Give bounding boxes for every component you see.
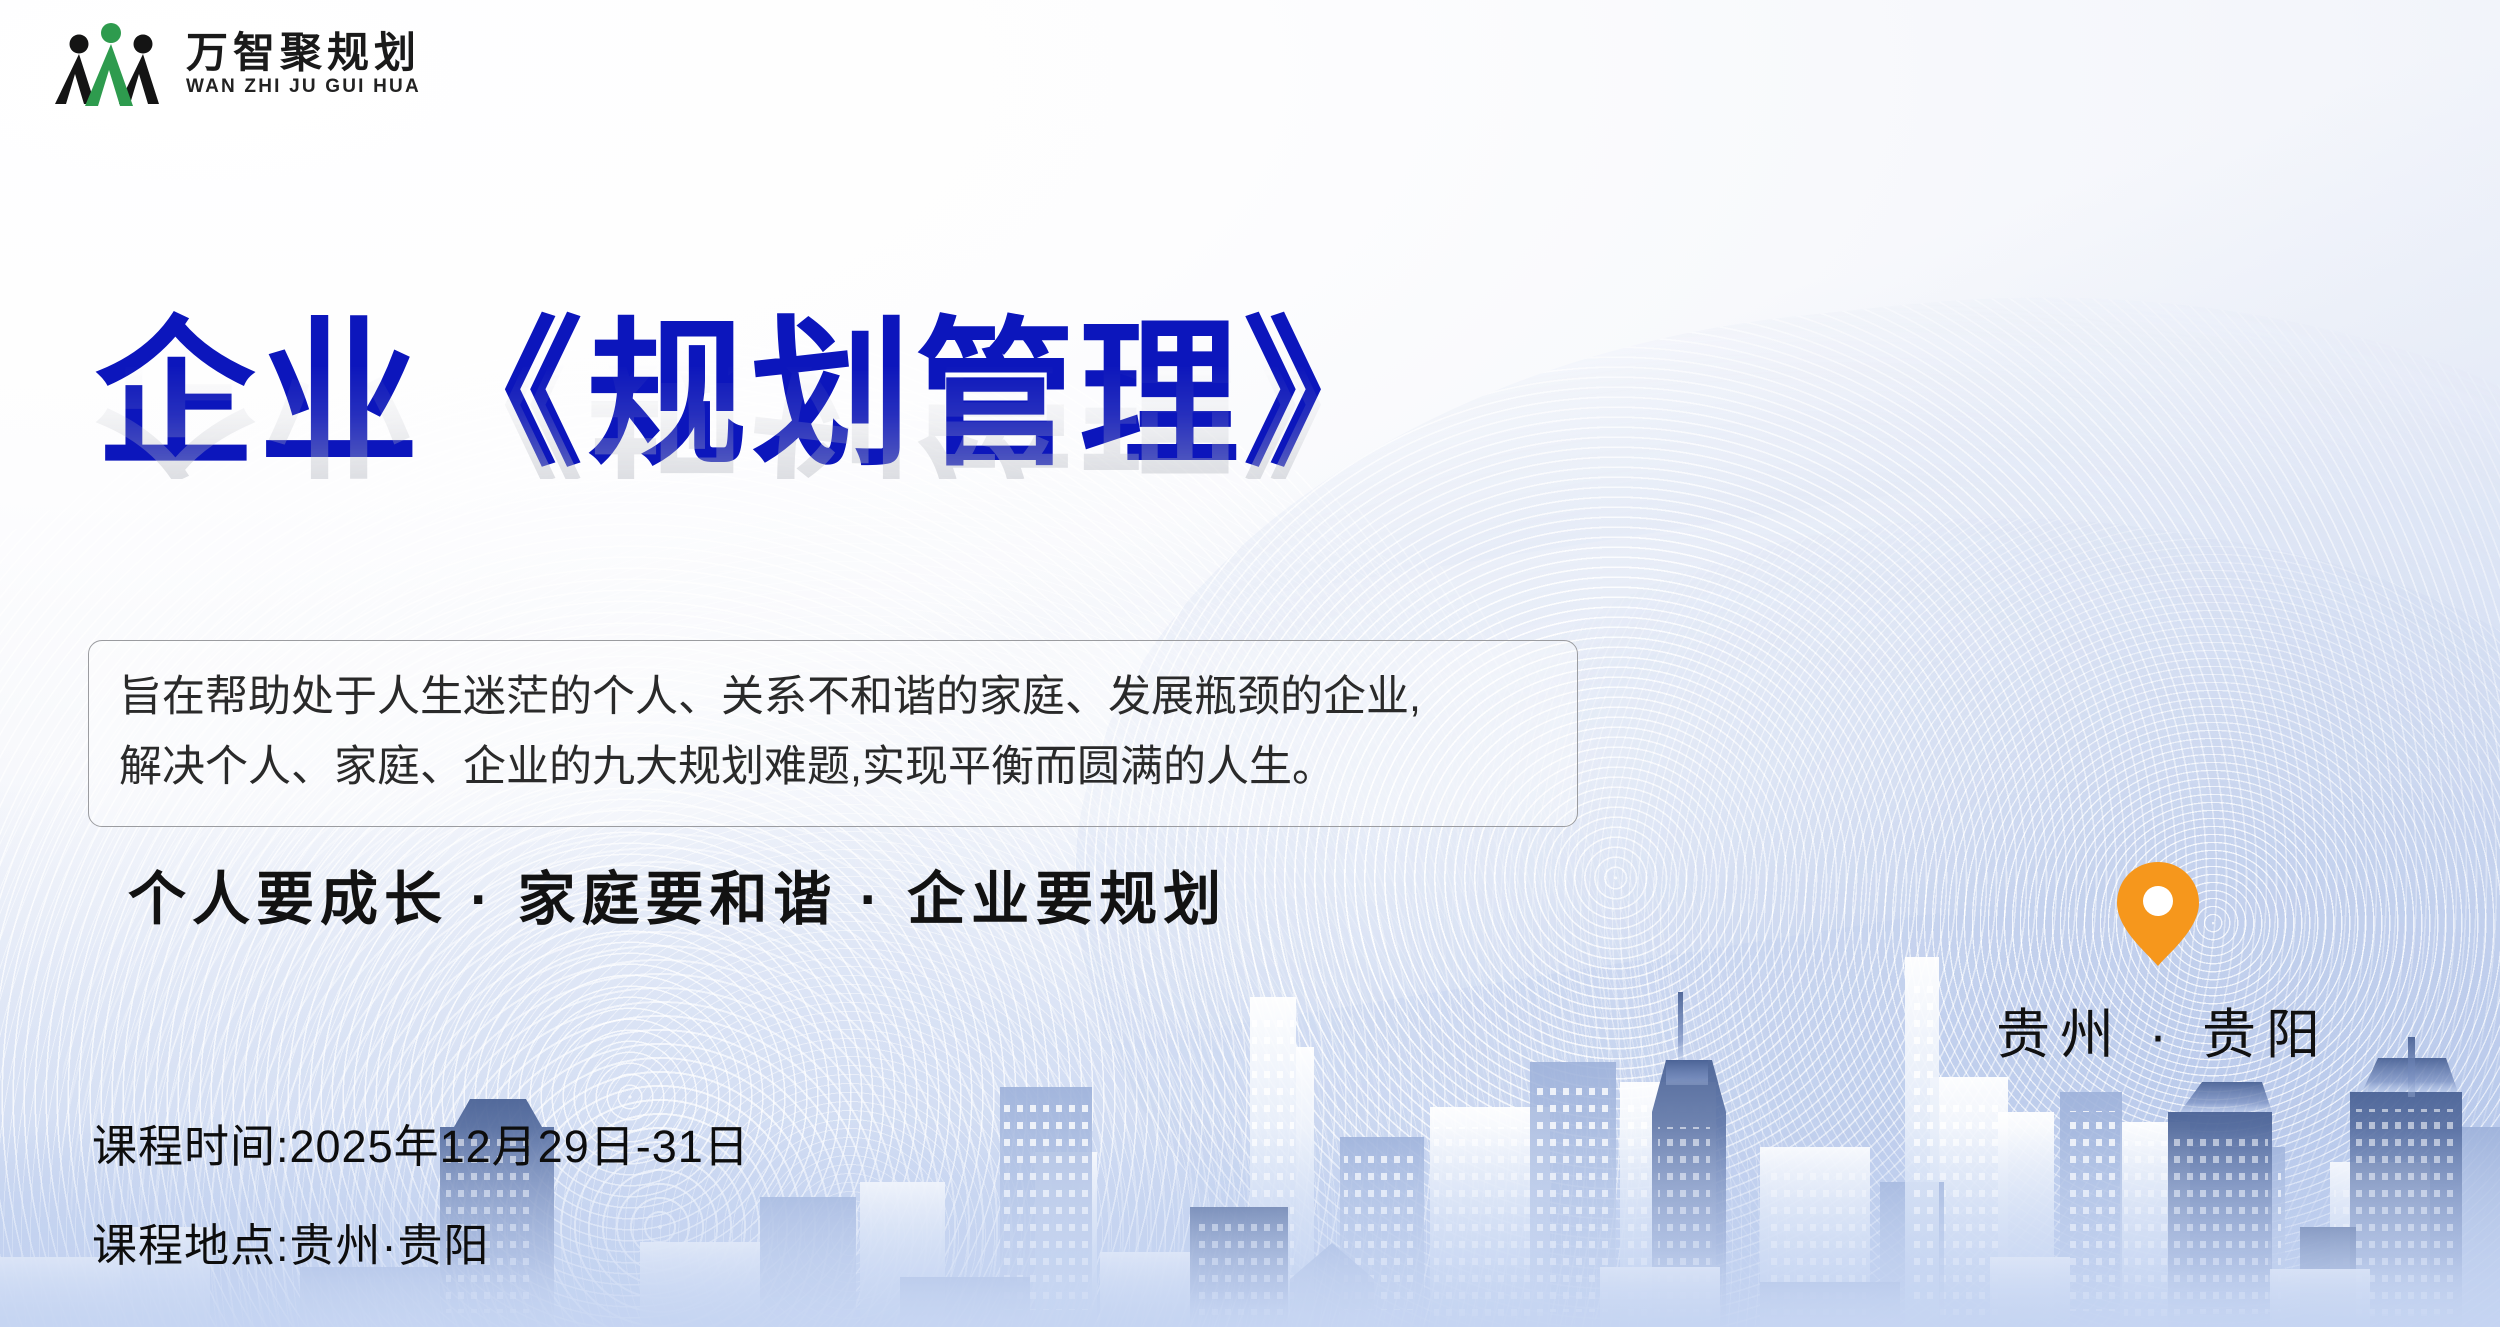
promo-poster: 万智聚规划 WAN ZHI JU GUI HUA 企业《规划管理》 企业《规划管… bbox=[0, 0, 2500, 1327]
course-time: 课程时间:2025年12月29日-31日 bbox=[92, 1110, 750, 1175]
description-line-1: 旨在帮助处于人生迷茫的个人、关系不和谐的家庭、发展瓶颈的企业, bbox=[119, 663, 1549, 733]
location-label: 贵州 · 贵阳 bbox=[1986, 990, 2330, 1069]
headline-block: 企业《规划管理》 企业《规划管理》 bbox=[95, 315, 1407, 639]
page-title-reflection: 企业《规划管理》 bbox=[95, 319, 1407, 479]
brand-logo: 万智聚规划 WAN ZHI JU GUI HUA bbox=[52, 18, 421, 110]
tagline: 个人要成长 · 家庭要和谐 · 企业要规划 bbox=[128, 852, 1227, 936]
course-place: 课程地点:贵州·贵阳 bbox=[92, 1209, 750, 1274]
brand-name-pinyin: WAN ZHI JU GUI HUA bbox=[186, 77, 421, 96]
three-people-logo-icon bbox=[52, 18, 170, 110]
map-pin-icon bbox=[2115, 860, 2201, 968]
description-box: 旨在帮助处于人生迷茫的个人、关系不和谐的家庭、发展瓶颈的企业, 解决个人、家庭、… bbox=[88, 640, 1578, 827]
course-info: 课程时间:2025年12月29日-31日 课程地点:贵州·贵阳 bbox=[92, 1110, 750, 1274]
description-line-2: 解决个人、家庭、企业的九大规划难题,实现平衡而圆满的人生。 bbox=[119, 733, 1549, 803]
location-badge: 贵州 · 贵阳 bbox=[1986, 860, 2330, 1069]
brand-logo-text: 万智聚规划 WAN ZHI JU GUI HUA bbox=[186, 33, 421, 96]
brand-name-cn: 万智聚规划 bbox=[186, 33, 421, 75]
